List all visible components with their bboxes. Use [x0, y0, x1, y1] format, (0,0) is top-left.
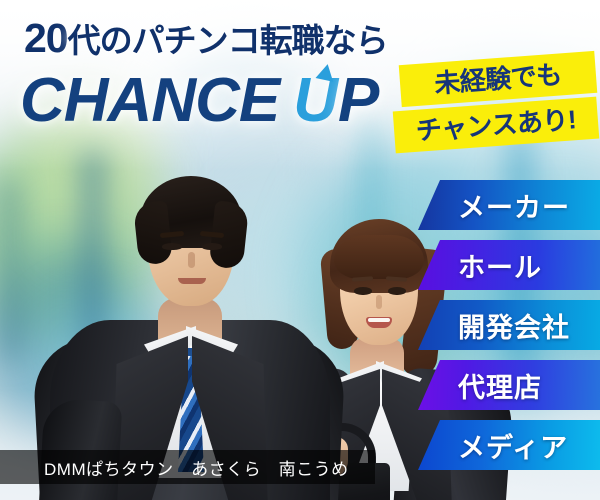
arrow-up-icon: [316, 62, 337, 81]
category-label: 開発会社: [458, 306, 570, 345]
caption-text: DMMぱちタウン あさくら 南こうめ: [44, 455, 349, 480]
category-button-media[interactable]: メディア: [418, 420, 600, 470]
category-label: ホール: [458, 246, 542, 285]
woman-bangs: [334, 235, 424, 279]
woman-teeth: [368, 318, 390, 322]
man-eye-left: [162, 243, 182, 250]
headline-text: 代のパチンコ転職なら: [68, 22, 388, 59]
category-label: メーカー: [458, 186, 570, 225]
ad-banner[interactable]: 20代のパチンコ転職なら CHANCE UP 未経験でも チャンスあり! メーカ…: [0, 0, 600, 500]
category-button-hall[interactable]: ホール: [418, 240, 600, 290]
man-mouth: [178, 278, 206, 284]
category-button-agency[interactable]: 代理店: [418, 360, 600, 410]
headline: 20代のパチンコ転職なら: [24, 18, 388, 59]
man-eye-right: [202, 243, 222, 250]
man-nose: [188, 252, 195, 268]
category-label: メディア: [458, 426, 568, 465]
category-button-maker[interactable]: メーカー: [418, 180, 600, 230]
logo-letter-p: P: [338, 66, 379, 135]
category-label: 代理店: [458, 366, 542, 405]
woman-nose: [376, 295, 382, 309]
logo-chance-up: CHANCE UP: [20, 70, 379, 132]
photo-man: [40, 150, 340, 500]
logo-word-chance: CHANCE: [20, 70, 279, 132]
caption-bar: DMMぱちタウン あさくら 南こうめ: [0, 450, 375, 484]
woman-eye-right: [388, 287, 406, 295]
category-button-development-company[interactable]: 開発会社: [418, 300, 600, 350]
badge-no-experience: 未経験でも チャンスあり!: [390, 56, 600, 156]
woman-eye-left: [354, 287, 372, 295]
category-button-list: メーカー ホール 開発会社 代理店 メディア: [418, 180, 600, 480]
headline-number: 20: [24, 15, 68, 61]
logo-up-wrap: UP: [293, 70, 379, 132]
